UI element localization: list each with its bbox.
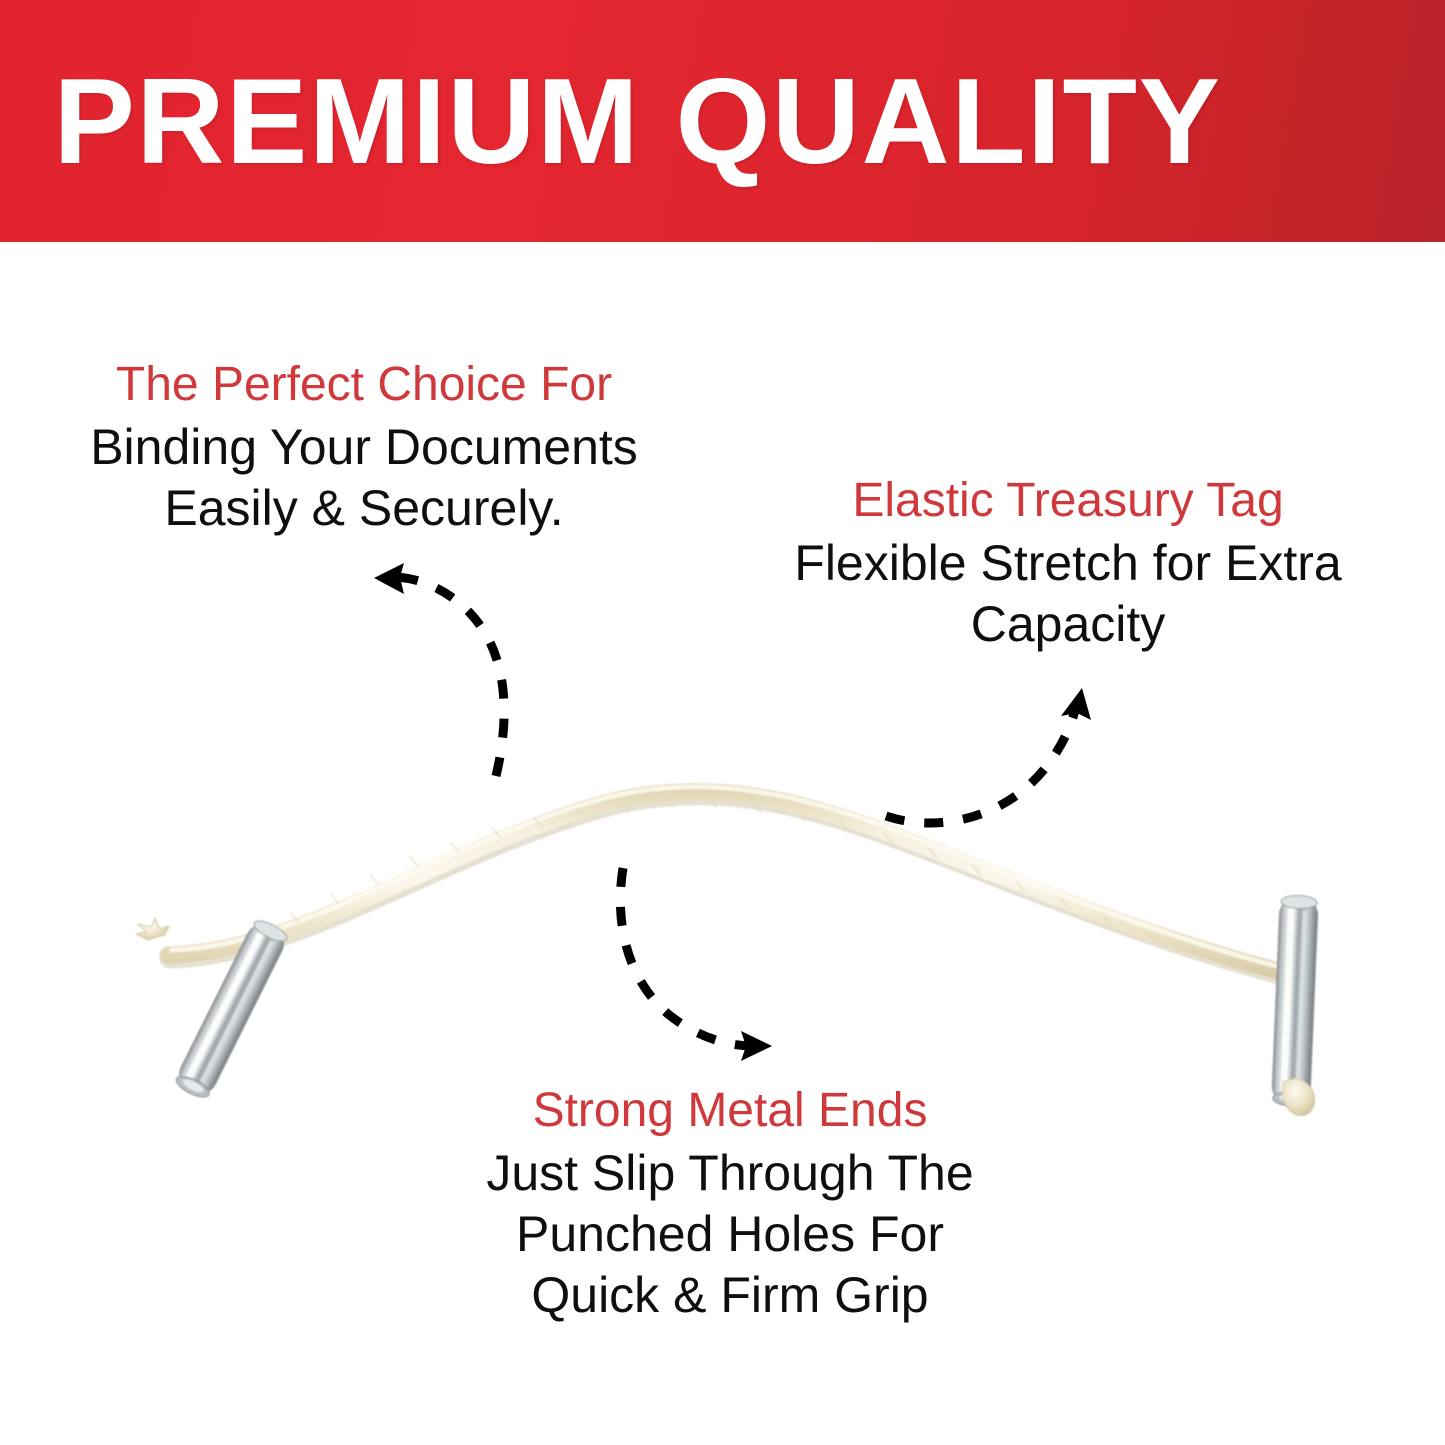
callout-elastic-treasury-tag: Elastic Treasury Tag Flexible Stretch fo…: [748, 472, 1388, 655]
infographic-page: PREMIUM QUALITY: [0, 0, 1445, 1445]
callout-heading: Elastic Treasury Tag: [748, 472, 1388, 531]
callout-heading: Strong Metal Ends: [440, 1082, 1020, 1141]
callout-body-line-2: Easily & Securely.: [34, 478, 694, 539]
arrow-to-perfect-choice: [374, 563, 504, 776]
callout-body-line-1: Flexible Stretch for Extra: [748, 533, 1388, 594]
callout-body-line-2: Punched Holes For: [440, 1204, 1020, 1265]
callout-body-line-3: Quick & Firm Grip: [440, 1265, 1020, 1326]
callout-body-line-1: Binding Your Documents: [34, 417, 694, 478]
callout-strong-metal-ends: Strong Metal Ends Just Slip Through The …: [440, 1082, 1020, 1326]
callout-body-line-2: Capacity: [748, 594, 1388, 655]
callout-heading: The Perfect Choice For: [34, 356, 694, 415]
callout-perfect-choice: The Perfect Choice For Binding Your Docu…: [34, 356, 694, 539]
arrow-to-strong-metal-ends: [620, 868, 772, 1061]
arrow-to-elastic-treasury-tag: [886, 688, 1091, 823]
callout-body-line-1: Just Slip Through The: [440, 1143, 1020, 1204]
